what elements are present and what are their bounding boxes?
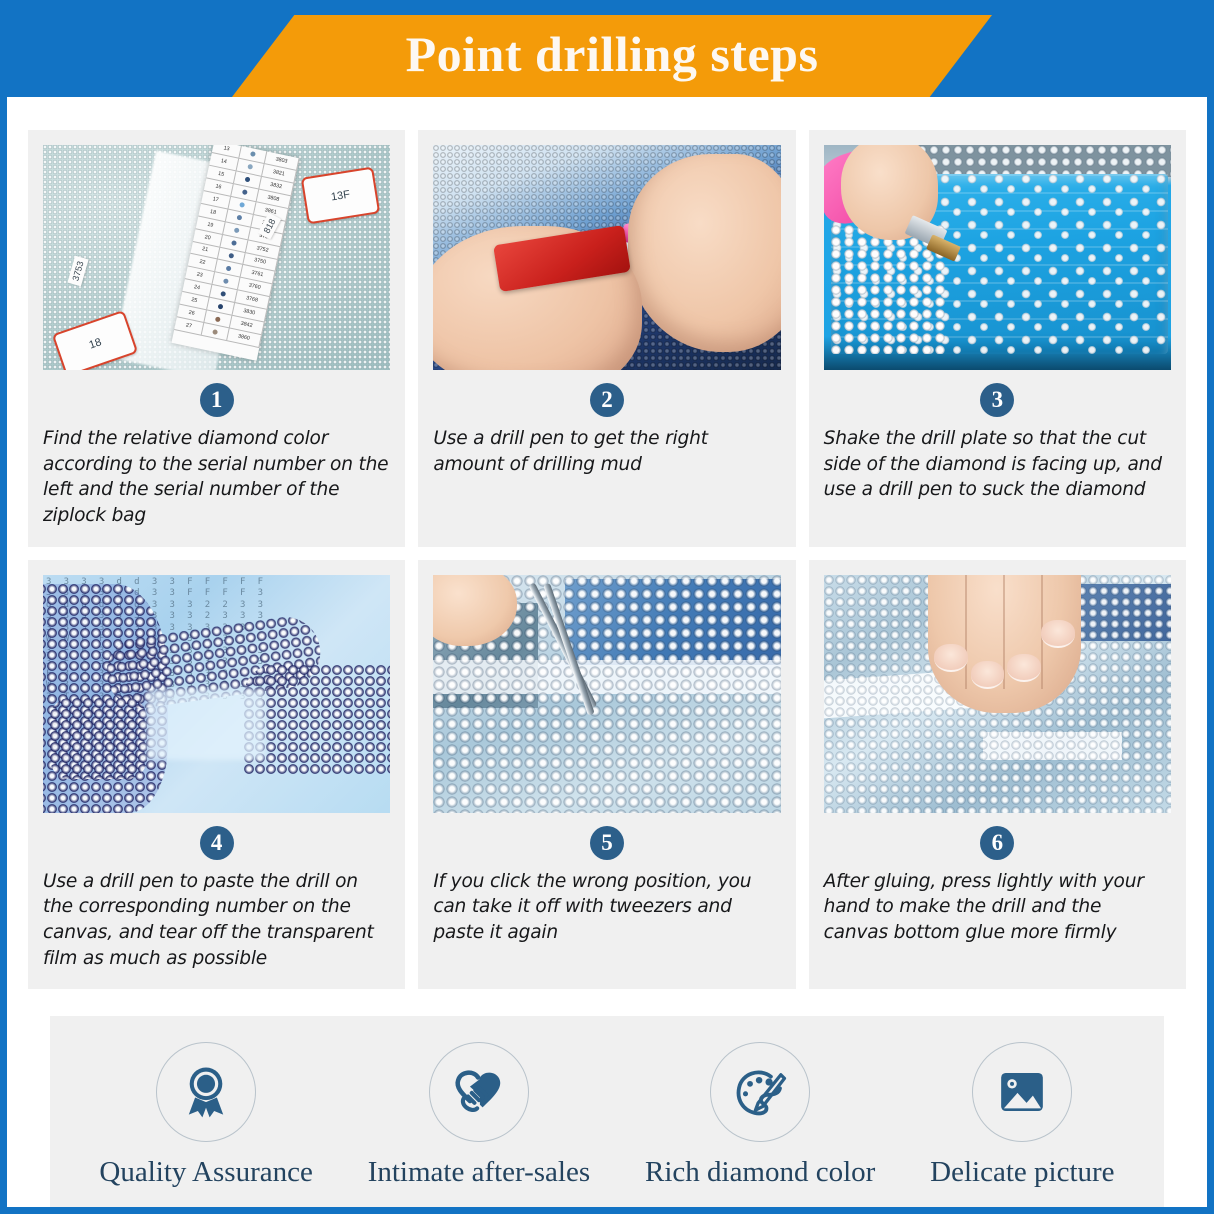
step-badge-5: 5	[590, 826, 624, 860]
step-photo-6	[824, 575, 1171, 813]
header-banner: Point drilling steps	[232, 15, 992, 97]
step-badge-2: 2	[590, 383, 624, 417]
step-text-6: After gluing, press lightly with your ha…	[824, 869, 1171, 946]
feature-delicate-picture: Delicate picture	[930, 1042, 1114, 1187]
paint-palette-icon-circle	[710, 1042, 810, 1142]
step-card-4: 3 3 3 3 d d 3 3 F F F F F 3 3 3 3 d d 3 …	[28, 560, 405, 990]
steps-grid: 1338031438211538321638081738611838651937…	[7, 97, 1207, 989]
step-badge-4: 4	[200, 826, 234, 860]
step-card-2: 2 Use a drill pen to get the right amoun…	[418, 130, 795, 547]
page-title: Point drilling steps	[406, 29, 819, 83]
feature-intimate-after-sales: Intimate after-sales	[368, 1042, 590, 1187]
handshake-heart-icon-circle	[429, 1042, 529, 1142]
picture-frame-icon	[993, 1063, 1051, 1121]
step-photo-4: 3 3 3 3 d d 3 3 F F F F F 3 3 3 3 d d 3 …	[43, 575, 390, 813]
tweezers	[510, 584, 621, 722]
step-card-3: 3 Shake the drill plate so that the cut …	[809, 130, 1186, 547]
picture-frame-icon-circle	[972, 1042, 1072, 1142]
step-card-6: 6 After gluing, press lightly with your …	[809, 560, 1186, 990]
award-ribbon-icon-circle	[156, 1042, 256, 1142]
feature-label-intimate-after-sales: Intimate after-sales	[368, 1158, 590, 1187]
step-photo-1: 1338031438211538321638081738611838651937…	[43, 145, 390, 370]
step-photo-3	[824, 145, 1171, 370]
step-card-5: 5 If you click the wrong position, you c…	[418, 560, 795, 990]
header-bar: Point drilling steps	[0, 0, 1214, 97]
step-text-5: If you click the wrong position, you can…	[433, 869, 780, 946]
hand	[928, 575, 1081, 713]
feature-label-delicate-picture: Delicate picture	[930, 1158, 1114, 1187]
step-badge-6: 6	[980, 826, 1014, 860]
step-text-3: Shake the drill plate so that the cut si…	[824, 426, 1171, 503]
step-text-1: Find the relative diamond color accordin…	[43, 426, 390, 529]
step-text-2: Use a drill pen to get the right amount …	[433, 426, 780, 477]
step-photo-5	[433, 575, 780, 813]
step-text-4: Use a drill pen to paste the drill on th…	[43, 869, 390, 972]
feature-quality-assurance: Quality Assurance	[99, 1042, 312, 1187]
step-photo-2	[433, 145, 780, 370]
step-card-1: 1338031438211538321638081738611838651937…	[28, 130, 405, 547]
award-ribbon-icon	[177, 1063, 235, 1121]
infographic-page: Point drilling steps 1338031438211538321…	[0, 0, 1214, 1214]
handshake-heart-icon	[450, 1063, 508, 1121]
feature-bar: Quality Assurance Intimate after-	[50, 1016, 1164, 1213]
feature-label-rich-diamond-color: Rich diamond color	[645, 1158, 875, 1187]
step-badge-1: 1	[200, 383, 234, 417]
paint-palette-icon	[731, 1063, 789, 1121]
feature-label-quality-assurance: Quality Assurance	[99, 1158, 312, 1187]
feature-rich-diamond-color: Rich diamond color	[645, 1042, 875, 1187]
step-badge-3: 3	[980, 383, 1014, 417]
